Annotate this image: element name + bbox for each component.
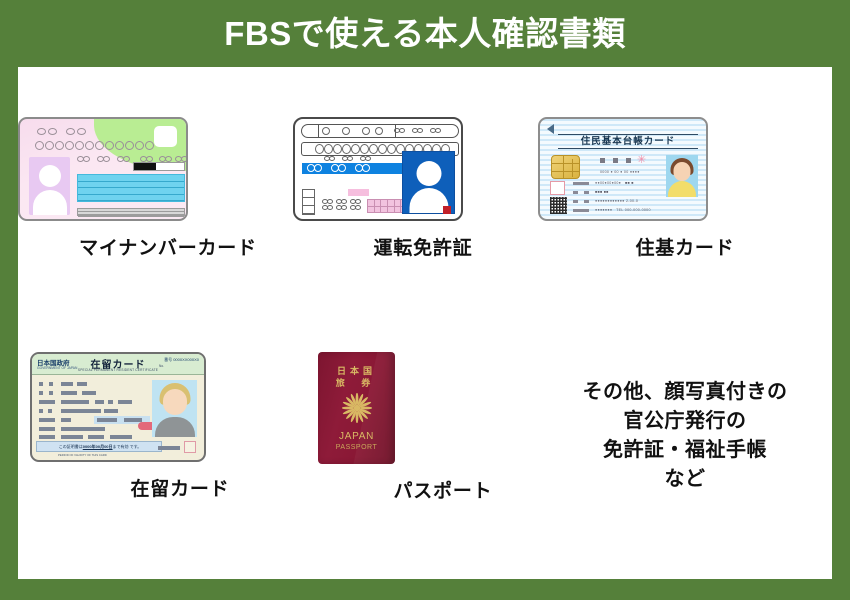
- document-item-mynumber: マイナンバーカード: [18, 117, 318, 260]
- portrait-silhouette-icon: [29, 157, 70, 215]
- other-note-line-3: 免許証・福祉手帳: [538, 436, 832, 465]
- document-item-passport: 日本国 旅 券: [318, 352, 568, 503]
- document-row-top: マイナンバーカード: [18, 117, 832, 317]
- drivers-license-card-icon: [293, 117, 553, 221]
- zairyu-validity-en: PERIOD OF VALIDITY OF THIS CARD: [58, 453, 107, 457]
- portrait-photo-icon: [152, 380, 197, 437]
- document-item-license: 運転免許証: [293, 117, 553, 260]
- zairyu-validity-tail: まで有効 です。: [113, 444, 142, 449]
- other-note-line-1: その他、顔写真付きの: [538, 378, 832, 407]
- other-documents-note: その他、顔写真付きの 官公庁発行の 免許証・福祉手帳 など: [538, 352, 832, 494]
- passport-jp-line2: 旅 券: [318, 376, 395, 389]
- zairyu-number: 番号 0000XX000X0: [164, 357, 199, 363]
- ic-chip-icon: [551, 155, 580, 179]
- title-banner: FBSで使える本人確認書類: [0, 0, 850, 67]
- zairyu-number-sub: No.: [159, 364, 164, 368]
- page-title: FBSで使える本人確認書類: [224, 17, 626, 50]
- zairyu-card-title-en: SPECIAL PERMANENT RESIDENT CERTIFICATE: [32, 368, 204, 372]
- back-arrow-icon: [547, 124, 554, 134]
- portrait-silhouette-icon: [402, 151, 455, 214]
- chrysanthemum-seal-icon: [342, 393, 372, 423]
- juki-net-card-icon: 住民基本台帳カード ✳ 0000 ● 00: [538, 117, 832, 221]
- zairyu-validity-date: 0000年00月00日: [83, 444, 113, 449]
- qr-code-icon: [550, 197, 567, 214]
- document-label-passport: パスポート: [318, 476, 568, 503]
- zairyu-validity: この証明書は0000年00月00日まで有効 です。: [36, 441, 162, 452]
- document-label-mynumber: マイナンバーカード: [18, 233, 318, 260]
- document-label-zairyu: 在留カード: [30, 474, 330, 501]
- other-note-line-4: など: [538, 465, 832, 494]
- japan-passport-icon: 日本国 旅 券: [318, 352, 568, 464]
- document-row-bottom: 日本国政府 GOVERNMENT OF JAPAN 在留カード SPECIAL …: [18, 352, 832, 552]
- residence-card-icon: 日本国政府 GOVERNMENT OF JAPAN 在留カード SPECIAL …: [30, 352, 330, 462]
- other-note-line-2: 官公庁発行の: [538, 407, 832, 436]
- document-label-juki: 住基カード: [538, 233, 832, 260]
- content-panel: マイナンバーカード: [18, 67, 832, 579]
- document-item-zairyu: 日本国政府 GOVERNMENT OF JAPAN 在留カード SPECIAL …: [30, 352, 330, 501]
- portrait-photo-icon: [666, 155, 698, 197]
- my-number-card-icon: [18, 117, 318, 221]
- poster-root: FBSで使える本人確認書類: [0, 0, 850, 600]
- passport-en-line2: PASSPORT: [318, 444, 395, 451]
- zairyu-validity-jp: この証明書は: [59, 444, 83, 449]
- document-item-juki: 住民基本台帳カード ✳ 0000 ● 00: [538, 117, 832, 260]
- passport-en-line1: JAPAN: [318, 431, 395, 442]
- document-label-license: 運転免許証: [293, 233, 553, 260]
- juki-card-title: 住民基本台帳カード: [558, 134, 698, 149]
